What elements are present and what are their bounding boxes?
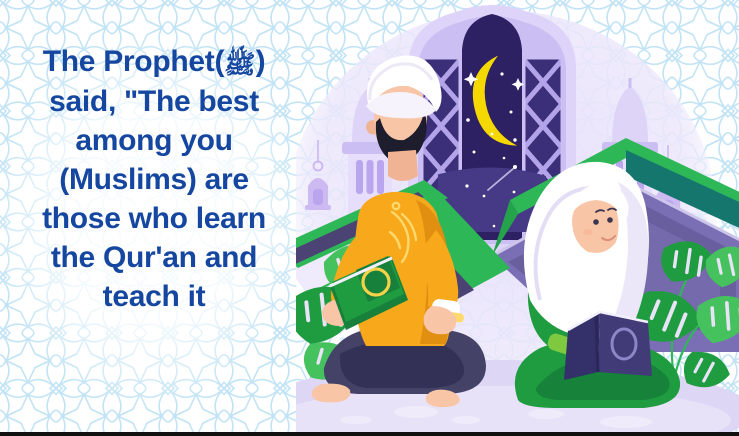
quote-line-1-suffix: ) [256, 45, 266, 78]
mosque-night-illustration [296, 0, 739, 432]
quote-line-4: (Muslims) are [6, 160, 302, 199]
quote-line-1: The Prophet(ﷺ) [6, 42, 302, 82]
quote-line-1-prefix: The Prophet( [43, 45, 224, 78]
quote-line-5: those who learn [6, 199, 302, 238]
quote-text-block: The Prophet(ﷺ) said, "The best among you… [6, 42, 302, 316]
quote-card: The Prophet(ﷺ) said, "The best among you… [0, 0, 739, 436]
quote-line-3: among you [6, 121, 302, 160]
honorific-saw-glyph: ﷺ [224, 49, 255, 79]
quote-line-2: said, "The best [6, 82, 302, 121]
quote-line-7: teach it [6, 277, 302, 316]
quote-line-6: the Qur'an and [6, 238, 302, 277]
